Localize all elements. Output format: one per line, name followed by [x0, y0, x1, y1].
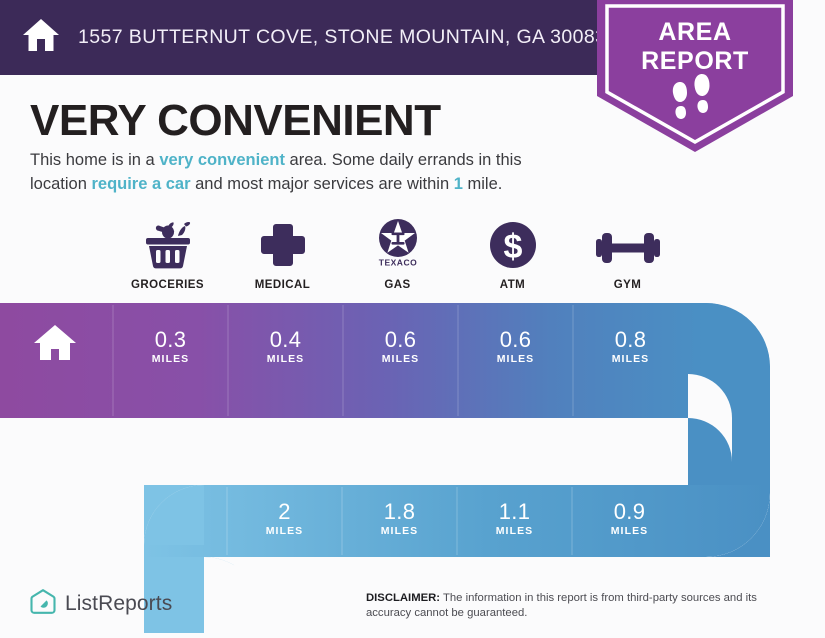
badge-line-2: REPORT — [597, 47, 793, 76]
distance-value: 0.6 — [458, 328, 573, 352]
home-icon — [22, 17, 60, 58]
listreports-house-icon — [30, 588, 56, 620]
blurb-part-3: and most major services are within — [191, 175, 454, 193]
svg-text:$: $ — [503, 228, 522, 266]
texaco-wordmark: TEXACO — [378, 258, 416, 268]
disclaimer-label: DISCLAIMER: — [366, 592, 440, 604]
distance-unit: MILES — [342, 524, 457, 538]
blurb-highlight-convenient: very convenient — [159, 151, 285, 169]
blurb-part-4: mile. — [463, 175, 502, 193]
distance-unit: MILES — [113, 352, 228, 366]
distance-value: 0.3 — [113, 328, 228, 352]
service-medical: MEDICAL — [225, 218, 340, 291]
distance-unit: MILES — [228, 352, 343, 366]
distance-movie-theater: 2 MILES — [227, 500, 342, 538]
badge-line-1: AREA — [597, 18, 793, 47]
distance-value: 1.8 — [342, 500, 457, 524]
area-report-badge: AREA REPORT — [597, 0, 793, 152]
distance-unit: MILES — [343, 352, 458, 366]
distance-atm: 0.6 MILES — [458, 328, 573, 366]
distance-pharmacy: 1.1 MILES — [457, 500, 572, 538]
distance-value: 0.8 — [573, 328, 688, 352]
distance-ribbon: 0.3 MILES 0.4 MILES 0.6 MILES 0.6 MILES … — [0, 303, 825, 633]
distance-coffee: 1.8 MILES — [342, 500, 457, 538]
property-address: 1557 BUTTERNUT COVE, STONE MOUNTAIN, GA … — [78, 26, 606, 49]
distance-value: 0.4 — [228, 328, 343, 352]
service-groceries: GROCERIES — [110, 218, 225, 291]
blurb-highlight-car: require a car — [91, 175, 190, 193]
distance-gym: 0.8 MILES — [573, 328, 688, 366]
distance-unit: MILES — [572, 524, 687, 538]
home-marker-icon — [33, 323, 77, 368]
service-label: GYM — [614, 279, 642, 291]
texaco-star-icon: TEXACO — [371, 218, 425, 270]
distance-gas: 0.6 MILES — [343, 328, 458, 366]
distance-value: 1.1 — [457, 500, 572, 524]
distance-unit: MILES — [457, 524, 572, 538]
distance-cleaners: 0.9 MILES — [572, 500, 687, 538]
blurb-highlight-distance: 1 — [454, 175, 463, 193]
distance-value: 0.9 — [572, 500, 687, 524]
area-report-infographic: 1557 BUTTERNUT COVE, STONE MOUNTAIN, GA … — [0, 0, 825, 633]
distance-value: 2 — [227, 500, 342, 524]
primary-services-icon-row: GROCERIES MEDICAL TE — [110, 218, 710, 291]
service-gas: TEXACO GAS — [340, 218, 455, 291]
service-label: GROCERIES — [131, 279, 204, 291]
dumbbell-icon — [596, 218, 660, 270]
distance-unit: MILES — [458, 352, 573, 366]
distance-unit: MILES — [227, 524, 342, 538]
blurb-part-1: This home is in a — [30, 151, 159, 169]
listreports-logo[interactable]: ListReports — [30, 588, 172, 620]
service-atm: $ ATM — [455, 218, 570, 291]
medical-cross-icon — [258, 218, 308, 270]
service-gym: GYM — [570, 218, 685, 291]
service-label: MEDICAL — [255, 279, 311, 291]
service-label: GAS — [384, 279, 410, 291]
distance-unit: MILES — [573, 352, 688, 366]
listreports-wordmark: ListReports — [65, 592, 172, 616]
badge-title: AREA REPORT — [597, 18, 793, 76]
page-title: VERY CONVENIENT — [30, 96, 441, 146]
header-bar: 1557 BUTTERNUT COVE, STONE MOUNTAIN, GA … — [0, 0, 598, 75]
summary-text: This home is in a very convenient area. … — [30, 148, 575, 196]
distance-value: 0.6 — [343, 328, 458, 352]
disclaimer: DISCLAIMER: The information in this repo… — [366, 591, 798, 621]
distance-medical: 0.4 MILES — [228, 328, 343, 366]
distance-groceries: 0.3 MILES — [113, 328, 228, 366]
service-label: ATM — [500, 279, 525, 291]
dollar-coin-icon: $ — [488, 218, 538, 270]
grocery-basket-icon — [140, 218, 196, 270]
